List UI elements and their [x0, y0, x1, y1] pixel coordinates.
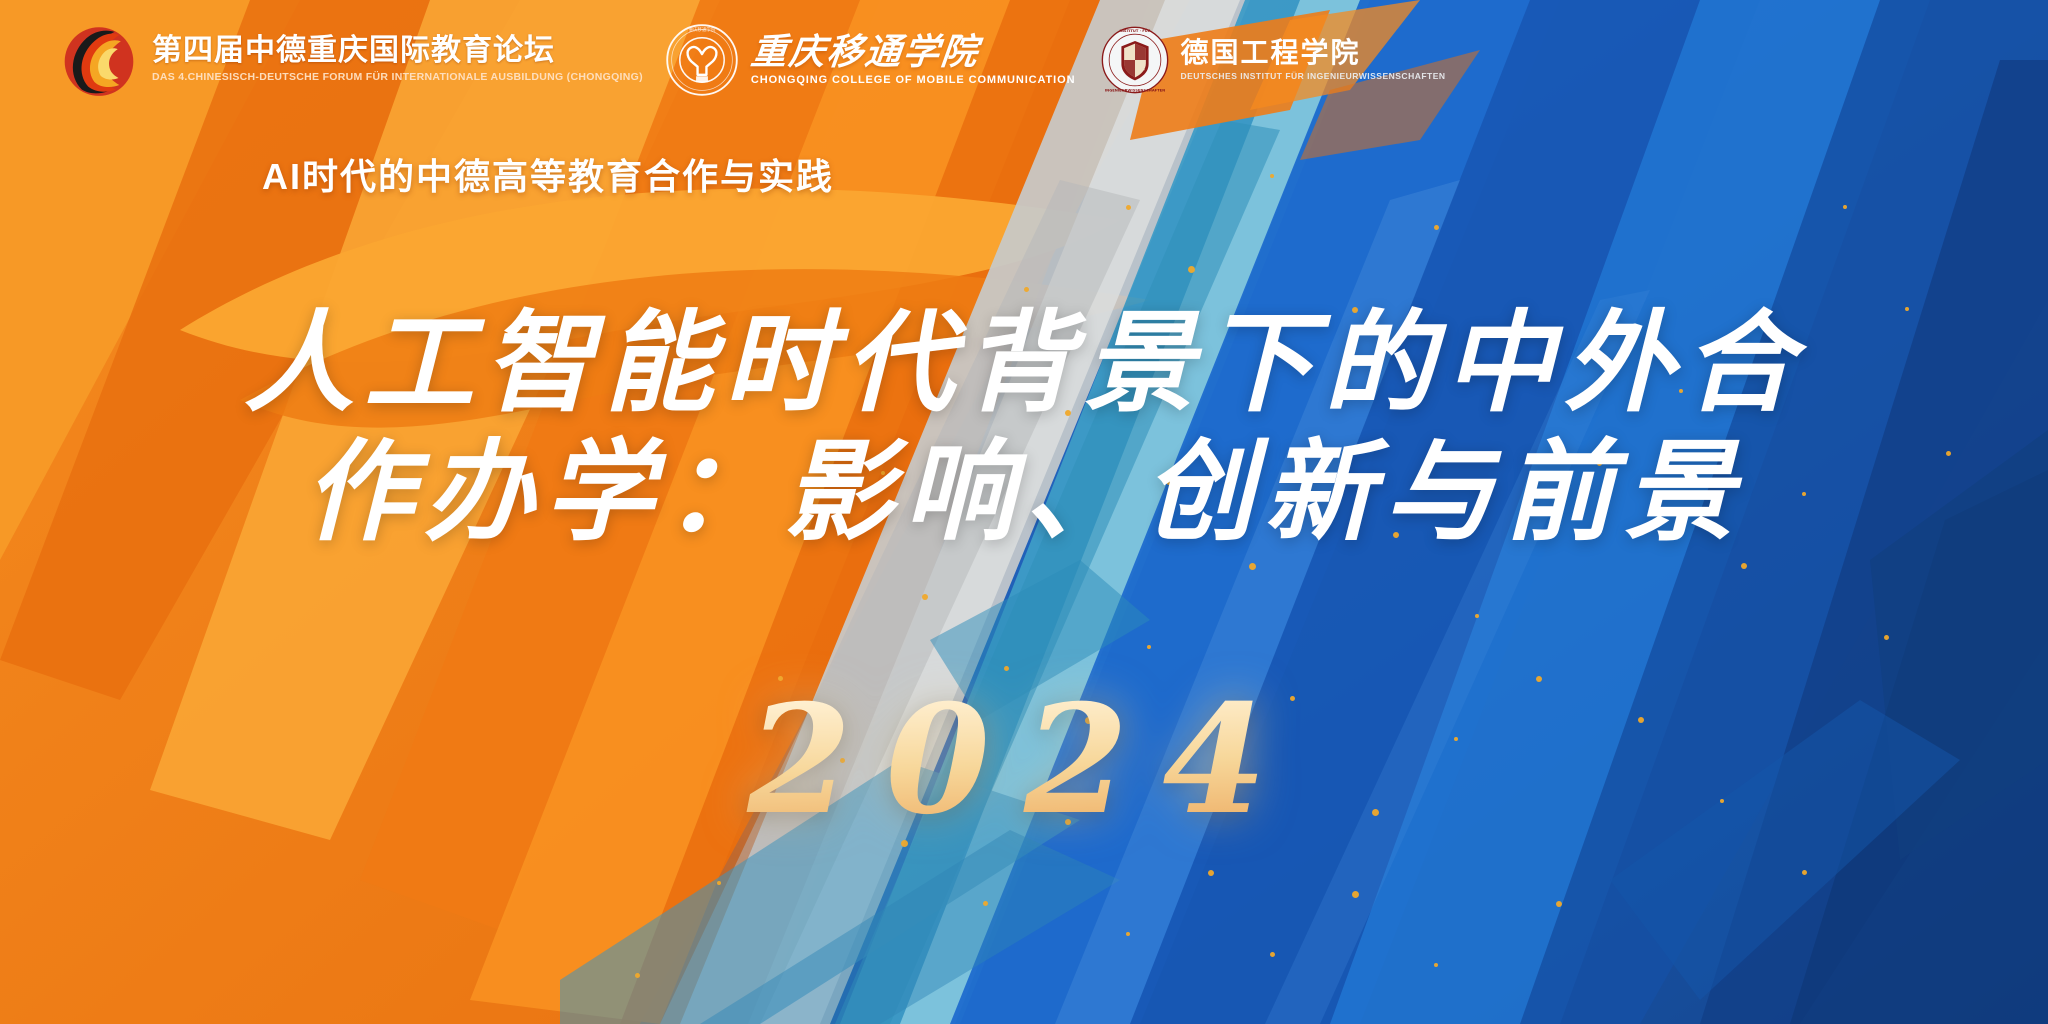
chongqing-college-seal-icon: 重庆移通学院	[665, 23, 739, 97]
year-label: 2024	[0, 672, 2048, 848]
forum-title-de: DAS 4.CHINESISCH-DEUTSCHE FORUM FÜR INTE…	[152, 70, 643, 85]
institute-name-cn: 德国工程学院	[1180, 39, 1445, 67]
institute-name-block: 德国工程学院 DEUTSCHES INSTITUT FÜR INGENIEURW…	[1180, 39, 1445, 81]
flame-phoenix-icon	[60, 21, 138, 99]
college-name-block: 重庆移通学院 CHONGQING COLLEGE OF MOBILE COMMU…	[751, 34, 1076, 86]
college-logo-lockup: 重庆移通学院 重庆移通学院 CHONGQING COLLEGE OF MOBIL…	[665, 23, 1076, 97]
svg-text:INSTITUT · FÜR: INSTITUT · FÜR	[1120, 28, 1151, 33]
header-logo-bar: 第四届中德重庆国际教育论坛 DAS 4.CHINESISCH-DEUTSCHE …	[0, 0, 2048, 120]
forum-title-cn: 第四届中德重庆国际教育论坛	[152, 35, 643, 67]
institute-logo-lockup: INSTITUT · FÜR INGENIEURWISSENSCHAFTEN 德…	[1101, 26, 1445, 94]
poster-canvas: 第四届中德重庆国际教育论坛 DAS 4.CHINESISCH-DEUTSCHE …	[0, 0, 2048, 1024]
german-institute-crest-icon: INSTITUT · FÜR INGENIEURWISSENSCHAFTEN	[1101, 26, 1169, 94]
event-subtitle: AI时代的中德高等教育合作与实践	[262, 148, 834, 200]
forum-title-block: 第四届中德重庆国际教育论坛 DAS 4.CHINESISCH-DEUTSCHE …	[152, 35, 643, 84]
college-name-en: CHONGQING COLLEGE OF MOBILE COMMUNICATIO…	[751, 74, 1076, 86]
svg-text:INGENIEURWISSENSCHAFTEN: INGENIEURWISSENSCHAFTEN	[1105, 88, 1165, 92]
institute-name-de: DEUTSCHES INSTITUT FÜR INGENIEURWISSENSC…	[1180, 71, 1445, 81]
college-name-cn: 重庆移通学院	[749, 34, 1077, 70]
forum-logo-lockup: 第四届中德重庆国际教育论坛 DAS 4.CHINESISCH-DEUTSCHE …	[60, 21, 643, 99]
